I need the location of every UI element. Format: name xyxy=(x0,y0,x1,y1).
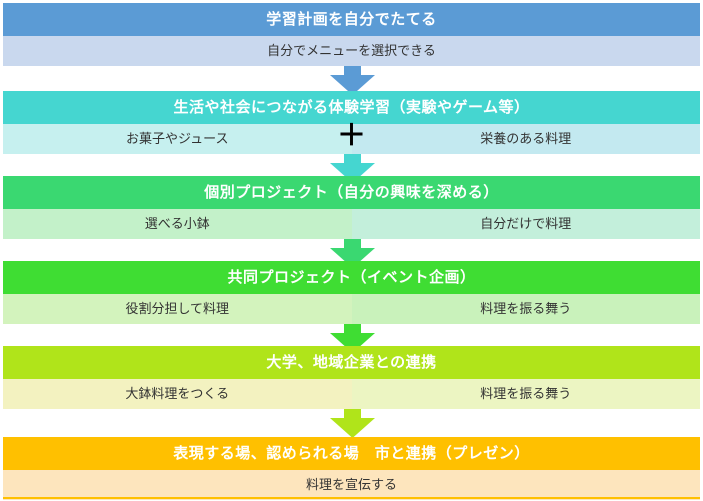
stage-title-5: 大学、地域企業との連携 xyxy=(3,346,700,379)
stage-title-3: 個別プロジェクト（自分の興味を深める） xyxy=(3,176,700,209)
stage-subrow-1: 自分でメニューを選択できる xyxy=(3,36,700,66)
stage-title-6: 表現する場、認められる場 市と連携（プレゼン） xyxy=(3,437,700,470)
stage-sub-left-4: 役割分担して料理 xyxy=(3,294,352,324)
stage-sub-right-4: 料理を振る舞う xyxy=(352,294,701,324)
stage-block-4: 共同プロジェクト（イベント企画）役割分担して料理料理を振る舞う xyxy=(3,261,700,324)
down-arrow-yellowgreen xyxy=(330,407,375,438)
bottom-accent-rule xyxy=(3,497,700,499)
stage-sub-right-2: 栄養のある料理 xyxy=(352,124,701,154)
stage-subrow-5: 大鉢料理をつくる料理を振る舞う xyxy=(3,379,700,409)
stage-block-5: 大学、地域企業との連携大鉢料理をつくる料理を振る舞う xyxy=(3,346,700,409)
stage-subrow-6: 料理を宣伝する xyxy=(3,470,700,500)
stage-sub-left-6: 料理を宣伝する xyxy=(3,470,700,500)
stage-sub-right-5: 料理を振る舞う xyxy=(352,379,701,409)
stage-block-6: 表現する場、認められる場 市と連携（プレゼン）料理を宣伝する xyxy=(3,437,700,500)
flowchart-diagram: 学習計画を自分でたてる自分でメニューを選択できる生活や社会につながる体験学習（実… xyxy=(0,0,703,501)
stage-sub-left-1: 自分でメニューを選択できる xyxy=(3,36,700,66)
stage-block-1: 学習計画を自分でたてる自分でメニューを選択できる xyxy=(3,3,700,66)
stage-title-4: 共同プロジェクト（イベント企画） xyxy=(3,261,700,294)
stage-sub-right-3: 自分だけで料理 xyxy=(352,209,701,239)
stage-subrow-3: 選べる小鉢自分だけで料理 xyxy=(3,209,700,239)
stage-title-1: 学習計画を自分でたてる xyxy=(3,3,700,36)
stage-block-3: 個別プロジェクト（自分の興味を深める）選べる小鉢自分だけで料理 xyxy=(3,176,700,239)
stage-sub-left-3: 選べる小鉢 xyxy=(3,209,352,239)
stage-sub-left-2: お菓子やジュース xyxy=(3,124,352,154)
plus-icon: ＋ xyxy=(337,121,365,149)
stage-subrow-4: 役割分担して料理料理を振る舞う xyxy=(3,294,700,324)
stage-sub-left-5: 大鉢料理をつくる xyxy=(3,379,352,409)
